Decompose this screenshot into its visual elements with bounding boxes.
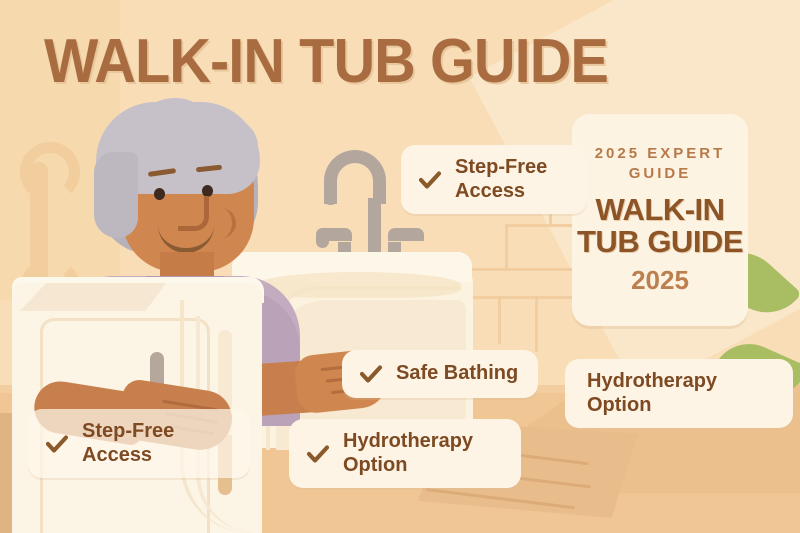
badge-kicker: 2025 EXPERT GUIDE: [572, 144, 748, 184]
feature-chip-label: Hydrotherapy Option: [343, 430, 473, 477]
feature-chip-hydrotherapy-right[interactable]: Hydrotherapy Option: [565, 359, 793, 428]
feature-chip-label: Step-Free Access: [455, 156, 547, 203]
page-title: WALK-IN TUB GUIDE: [44, 26, 608, 97]
feature-chip-safe-bathing[interactable]: Safe Bathing: [342, 350, 538, 398]
poster-canvas: WALK-IN TUB GUIDE 2025 EXPERT GUIDE WALK…: [0, 0, 800, 533]
checkmark-icon: [358, 361, 384, 387]
checkmark-icon: [305, 441, 331, 467]
checkmark-icon: [417, 167, 443, 193]
badge-title: WALK-IN TUB GUIDE: [572, 194, 748, 258]
wall-tile-line: [458, 296, 578, 299]
wall-tile-line: [535, 296, 538, 352]
feature-chip-label: Safe Bathing: [396, 362, 518, 386]
feature-chip-hydrotherapy-mid[interactable]: Hydrotherapy Option: [289, 419, 521, 488]
feature-chip-step-free-top[interactable]: Step-Free Access: [401, 145, 587, 214]
feature-chip-label: Step-Free Access: [82, 420, 174, 467]
feature-chip-step-free-bottom[interactable]: Step-Free Access: [28, 409, 250, 478]
expert-guide-badge: 2025 EXPERT GUIDE WALK-IN TUB GUIDE 2025: [572, 114, 748, 326]
feature-chip-label: Hydrotherapy Option: [587, 370, 717, 417]
wall-tile-line: [505, 224, 508, 268]
wall-tile-line: [498, 296, 501, 344]
checkmark-icon: [44, 431, 70, 457]
badge-year: 2025: [631, 265, 689, 296]
